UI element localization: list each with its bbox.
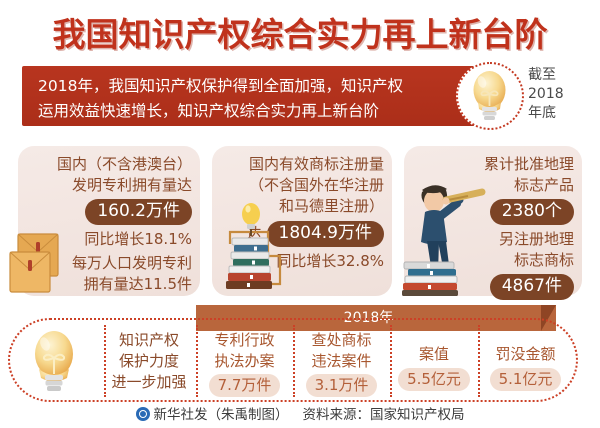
summary-banner-line-1: 2018年，我国知识产权保护得到全面加强，知识产权 (38, 74, 478, 99)
cell-1-value: 3.1万件 (306, 374, 378, 397)
cell-3-line-1: 罚没金额 (478, 344, 573, 365)
footer: 新华社发（朱禹制图）资料来源：国家知识产权局 (0, 403, 600, 423)
lightbulb-icon (24, 326, 84, 396)
envelope-icon (6, 230, 76, 296)
cell-3-value: 5.1亿元 (490, 368, 562, 391)
patent-line-1: 国内（不含港澳台） (57, 154, 192, 175)
geo-line-3: 另注册地理 (484, 229, 574, 250)
page-title: 我国知识产权综合实力再上新台阶 (0, 8, 600, 56)
geo-value-pill-1: 2380个 (490, 199, 574, 225)
lead-line-1: 知识产权 (104, 330, 194, 351)
cell-0-line-2: 执法办案 (196, 351, 293, 372)
xinhua-logo-icon (136, 407, 150, 421)
summary-banner: 2018年，我国知识产权保护得到全面加强，知识产权 运用效益快速增长，知识产权综… (22, 66, 492, 126)
geo-line-1: 累计批准地理 (484, 154, 574, 175)
lead-line-2: 保护力度 (104, 351, 194, 372)
books-lightbulb-icon (216, 198, 292, 294)
card-domestic-patent: 国内（不含港澳台） 发明专利拥有量达 160.2万件 同比增长18.1% 每万人… (18, 146, 200, 296)
card-trademark-registration: 国内有效商标注册量 （不含国外在华注册 和马德里注册） 达 1804.9万件 同… (212, 146, 392, 296)
as-of-text: 截至 2018 年底 (528, 66, 592, 123)
cell-1-line-2: 违法案件 (293, 351, 390, 372)
cell-0-line-1: 专利行政 (196, 330, 293, 351)
summary-banner-line-2: 运用效益快速增长，知识产权综合实力再上新台阶 (38, 99, 478, 124)
lead-line-3: 进一步加强 (104, 372, 194, 393)
strip-cell-trademark-violation: 查处商标 违法案件 3.1万件 (293, 330, 390, 397)
strip-cell-lead: 知识产权 保护力度 进一步加强 (104, 330, 194, 393)
footer-source: 资料来源：国家知识产权局 (303, 407, 465, 423)
lightbulb-icon (458, 64, 521, 127)
patent-line-5: 拥有量达11.5件 (57, 274, 192, 295)
as-of-badge (456, 62, 524, 130)
cell-0-value: 7.7万件 (209, 374, 281, 397)
as-of-line-3: 年底 (528, 104, 592, 123)
patent-value-pill: 160.2万件 (85, 199, 192, 225)
as-of-line-2: 2018 (528, 85, 592, 104)
patent-line-3: 同比增长18.1% (57, 229, 192, 250)
footer-agency: 新华社发（朱禹制图） (154, 407, 289, 423)
patent-line-4: 每万人口发明专利 (57, 253, 192, 274)
geo-line-4: 标志商标 (484, 250, 574, 271)
as-of-line-1: 截至 (528, 66, 592, 85)
cell-1-line-1: 查处商标 (293, 330, 390, 351)
geo-line-2: 标志产品 (484, 175, 574, 196)
strip-cell-patent-enforcement: 专利行政 执法办案 7.7万件 (196, 330, 293, 397)
strip-cell-penalty-amount: 罚没金额 5.1亿元 (478, 344, 573, 391)
trademark-line-2: （不含国外在华注册 (246, 175, 384, 196)
infographic-root: 我国知识产权综合实力再上新台阶 2018年，我国知识产权保护得到全面加强，知识产… (0, 0, 600, 428)
cell-2-value: 5.5亿元 (398, 368, 470, 391)
patent-line-2: 发明专利拥有量达 (57, 175, 192, 196)
card-geographic-indication: 累计批准地理 标志产品 2380个 另注册地理 标志商标 4867件 (404, 146, 582, 296)
cell-2-line-1: 案值 (390, 344, 478, 365)
person-telescope-icon (402, 170, 488, 296)
trademark-line-1: 国内有效商标注册量 (246, 154, 384, 175)
geo-value-pill-2: 4867件 (490, 274, 574, 300)
strip-cell-case-value: 案值 5.5亿元 (390, 344, 478, 391)
